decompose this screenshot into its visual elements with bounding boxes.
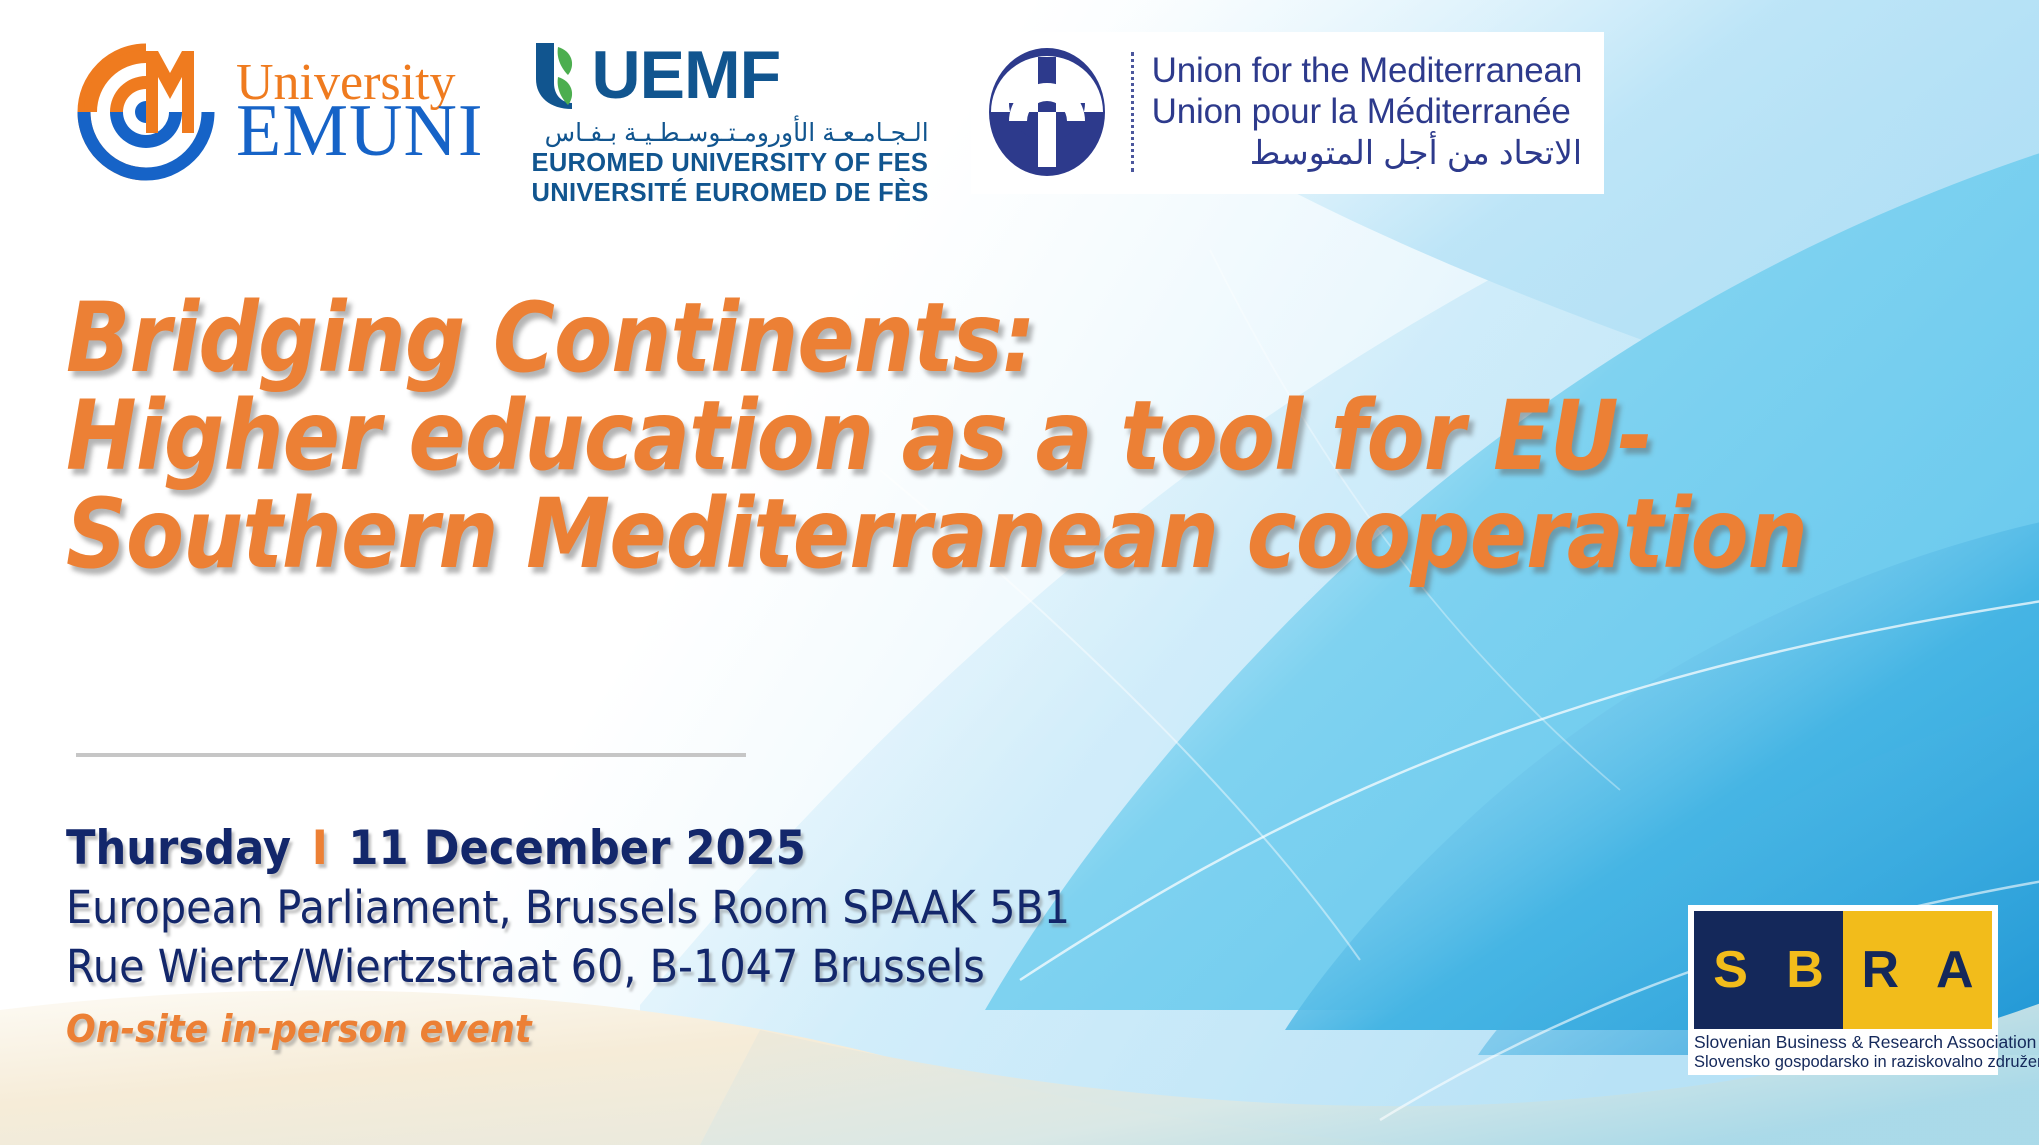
horizontal-divider [76, 753, 746, 757]
uemf-leaf-icon [532, 39, 588, 111]
ufm-french-name: Union pour la Méditerranée [1152, 92, 1582, 133]
sbra-letter-a: A [1936, 940, 1974, 1000]
event-banner: University EMUNI UEMF الـجـامـعـة الأورو… [0, 0, 2039, 1145]
logo-ufm: Union for the Mediterranean Union pour l… [971, 32, 1604, 194]
partner-logos: University EMUNI UEMF الـجـامـعـة الأورو… [70, 32, 1604, 208]
ufm-circle-emblem-icon [985, 43, 1109, 181]
logo-emuni: University EMUNI [70, 32, 484, 192]
emuni-name-text: EMUNI [236, 99, 484, 164]
event-address: Rue Wiertz/Wiertzstraat 60, B-1047 Bruss… [66, 940, 1070, 995]
sbra-letter-r: R [1861, 940, 1899, 1000]
uemf-english-name: EUROMED UNIVERSITY OF FES [532, 148, 929, 178]
uemf-french-name: UNIVERSITÉ EUROMED DE FÈS [532, 178, 929, 208]
event-title: Bridging Continents: Higher education as… [66, 290, 1626, 584]
event-date: 11 December 2025 [348, 821, 805, 876]
emuni-wordmark: University EMUNI [236, 60, 484, 165]
uemf-arabic-name: الـجـامـعـة الأورومـتـوسـطـيـة بـفـاس [532, 118, 929, 148]
ufm-arabic-name: الاتحاد من أجل المتوسط [1152, 134, 1582, 172]
title-line-2: Higher education as a tool for EU- [66, 388, 1439, 486]
logo-sbra: S B R A Slovenian Business & Research As… [1688, 905, 1998, 1075]
event-details: Thursday I 11 December 2025 European Par… [66, 820, 1157, 1051]
sbra-letter-s: S [1713, 940, 1748, 1000]
sbra-right-half: R A [1843, 911, 1992, 1029]
emuni-concentric-arcs-icon [70, 37, 222, 187]
sbra-left-half: S B [1694, 911, 1843, 1029]
sbra-mark: S B R A [1694, 911, 1992, 1029]
ufm-dotted-divider [1131, 52, 1134, 172]
ufm-english-name: Union for the Mediterranean [1152, 51, 1582, 92]
event-day: Thursday [66, 821, 291, 876]
date-separator: I [306, 821, 333, 876]
logo-uemf: UEMF الـجـامـعـة الأورومـتـوسـطـيـة بـفـ… [532, 32, 929, 208]
sbra-caption-english: Slovenian Business & Research Associatio… [1694, 1033, 1992, 1053]
title-line-1: Bridging Continents: [66, 290, 1439, 388]
sbra-caption-slovenian: Slovensko gospodarsko in raziskovalno zd… [1694, 1053, 1992, 1071]
event-date-row: Thursday I 11 December 2025 [66, 820, 1070, 877]
event-venue: European Parliament, Brussels Room SPAAK… [66, 881, 1070, 936]
uemf-acronym: UEMF [592, 41, 781, 109]
event-mode: On-site in-person event [66, 1007, 1070, 1051]
sbra-letter-b: B [1786, 940, 1824, 1000]
title-line-3: Southern Mediterranean cooperation [66, 486, 1439, 584]
